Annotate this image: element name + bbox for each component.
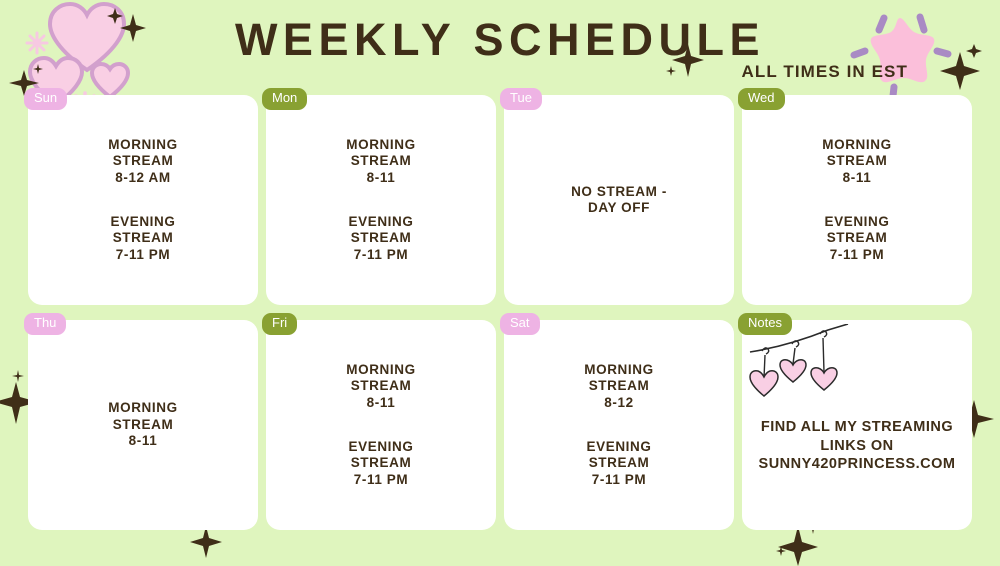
slot-morning: MORNING STREAM 8-11 <box>346 362 415 411</box>
header: WEEKLY SCHEDULE ALL TIMES IN EST <box>0 0 1000 90</box>
notes-tab[interactable]: Notes <box>738 313 792 335</box>
slot-evening: EVENING STREAM 7-11 PM <box>349 439 414 488</box>
notes-card[interactable]: Notes FIND ALL MY STREAMING LINKS ON SUN… <box>742 320 972 530</box>
slot-morning: MORNING STREAM 8-11 <box>346 137 415 186</box>
slot-evening: EVENING STREAM 7-11 PM <box>825 214 890 263</box>
timezone-note: ALL TIMES IN EST <box>741 62 908 82</box>
day-tab-saturday[interactable]: Sat <box>500 313 540 335</box>
slot-morning: MORNING STREAM 8-12 AM <box>108 137 177 186</box>
slot-evening: EVENING STREAM 7-11 PM <box>349 214 414 263</box>
day-card-saturday[interactable]: Sat MORNING STREAM 8-12 EVENING STREAM 7… <box>504 320 734 530</box>
day-card-thursday[interactable]: Thu MORNING STREAM 8-11 <box>28 320 258 530</box>
slot-morning: MORNING STREAM 8-11 <box>822 137 891 186</box>
hanging-hearts-garland-icon <box>748 324 868 414</box>
day-card-monday[interactable]: Mon MORNING STREAM 8-11 EVENING STREAM 7… <box>266 95 496 305</box>
slot-morning: MORNING STREAM 8-12 <box>584 362 653 411</box>
notes-body: FIND ALL MY STREAMING LINKS ON SUNNY420P… <box>753 418 962 474</box>
day-tab-sunday[interactable]: Sun <box>24 88 67 110</box>
slot-morning: MORNING STREAM 8-11 <box>108 400 177 449</box>
schedule-grid: Sun MORNING STREAM 8-12 AM EVENING STREA… <box>28 95 972 535</box>
day-tab-thursday[interactable]: Thu <box>24 313 66 335</box>
day-tab-friday[interactable]: Fri <box>262 313 297 335</box>
slot-evening: EVENING STREAM 7-11 PM <box>587 439 652 488</box>
day-tab-tuesday[interactable]: Tue <box>500 88 542 110</box>
day-tab-monday[interactable]: Mon <box>262 88 307 110</box>
schedule-canvas: WEEKLY SCHEDULE ALL TIMES IN EST Sun MOR… <box>0 0 1000 563</box>
day-tab-wednesday[interactable]: Wed <box>738 88 785 110</box>
slot-evening: EVENING STREAM 7-11 PM <box>111 214 176 263</box>
day-card-friday[interactable]: Fri MORNING STREAM 8-11 EVENING STREAM 7… <box>266 320 496 530</box>
day-card-sunday[interactable]: Sun MORNING STREAM 8-12 AM EVENING STREA… <box>28 95 258 305</box>
page-title: WEEKLY SCHEDULE <box>0 14 1000 66</box>
slot-day-off: NO STREAM - DAY OFF <box>571 184 667 217</box>
day-card-wednesday[interactable]: Wed MORNING STREAM 8-11 EVENING STREAM 7… <box>742 95 972 305</box>
day-card-tuesday[interactable]: Tue NO STREAM - DAY OFF <box>504 95 734 305</box>
